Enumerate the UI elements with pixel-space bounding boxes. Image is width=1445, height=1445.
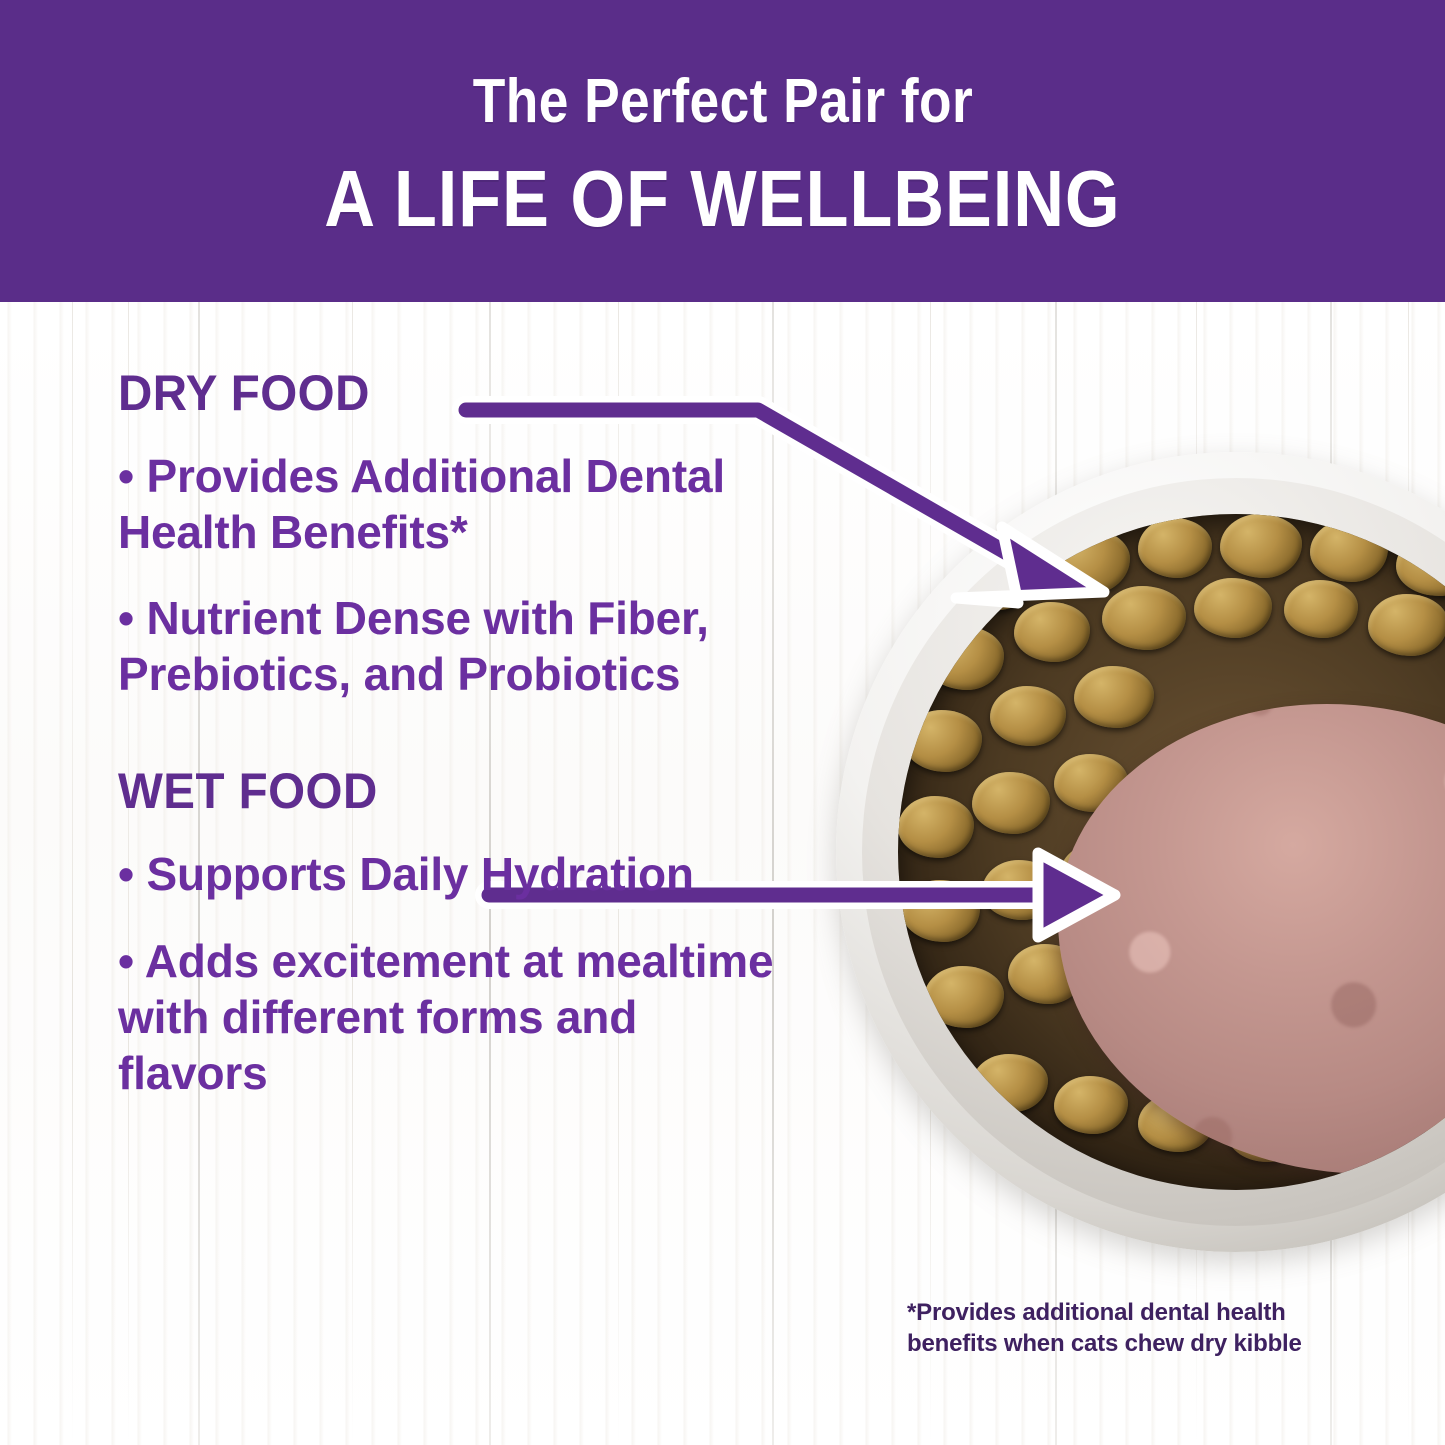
wet-food-section: WET FOOD • Supports Daily Hydration • Ad… — [118, 766, 818, 1100]
footnote-line-2: benefits when cats chew dry kibble — [907, 1328, 1337, 1359]
wet-food-bullet-1: • Supports Daily Hydration — [118, 846, 778, 902]
kibble-piece — [924, 966, 1004, 1028]
wet-food-bullet-1-text: Supports Daily Hydration — [147, 848, 694, 900]
dry-food-bullet-2: • Nutrient Dense with Fiber, Prebiotics,… — [118, 590, 778, 702]
kibble-piece — [1284, 580, 1358, 638]
kibble-piece — [972, 1054, 1048, 1112]
kibble-piece — [904, 710, 982, 772]
kibble-piece — [902, 880, 980, 942]
kibble-piece — [1310, 520, 1388, 582]
footnote-line-1: *Provides additional dental health — [907, 1297, 1337, 1328]
header-title-line1: The Perfect Pair for — [472, 71, 972, 133]
wet-food-pate — [1058, 704, 1445, 1174]
header-title-line2: A LIFE OF WELLBEING — [324, 159, 1120, 239]
kibble-piece — [956, 548, 1034, 610]
bullet-marker-icon: • — [118, 848, 134, 900]
bullet-marker-icon: • — [118, 592, 134, 644]
kibble-piece — [1194, 578, 1272, 638]
kibble-piece — [990, 686, 1066, 746]
kibble-piece — [898, 796, 974, 858]
bullet-marker-icon: • — [118, 450, 134, 502]
promo-infographic: The Perfect Pair for A LIFE OF WELLBEING — [0, 0, 1445, 1445]
wet-food-title: WET FOOD — [118, 766, 783, 816]
kibble-piece — [1044, 528, 1130, 594]
dry-food-title: DRY FOOD — [118, 368, 783, 418]
kibble-piece — [1368, 594, 1445, 656]
dry-food-bullet-2-text: Nutrient Dense with Fiber, Prebiotics, a… — [118, 592, 709, 700]
kibble-piece — [1220, 514, 1302, 578]
dry-food-section: DRY FOOD • Provides Additional Dental He… — [118, 368, 818, 702]
wet-food-bullet-2-text: Adds excitement at mealtime with differe… — [118, 935, 773, 1099]
kibble-piece — [982, 860, 1058, 920]
kibble-piece — [1014, 602, 1090, 662]
bullet-marker-icon: • — [118, 935, 134, 987]
benefits-copy-column: DRY FOOD • Provides Additional Dental He… — [118, 368, 818, 1101]
pate-texture — [1058, 704, 1445, 1174]
dry-food-bullet-1: • Provides Additional Dental Health Bene… — [118, 448, 778, 560]
kibble-piece — [924, 626, 1004, 690]
kibble-piece — [972, 772, 1050, 834]
dry-food-bullet-1-text: Provides Additional Dental Health Benefi… — [118, 450, 725, 558]
wet-food-bullet-2: • Adds excitement at mealtime with diffe… — [118, 933, 778, 1101]
kibble-piece — [1138, 518, 1212, 578]
cat-food-bowl-photo — [836, 452, 1445, 1252]
footnote: *Provides additional dental health benef… — [907, 1297, 1337, 1359]
header-banner: The Perfect Pair for A LIFE OF WELLBEING — [0, 0, 1445, 302]
kibble-piece — [1102, 586, 1186, 650]
